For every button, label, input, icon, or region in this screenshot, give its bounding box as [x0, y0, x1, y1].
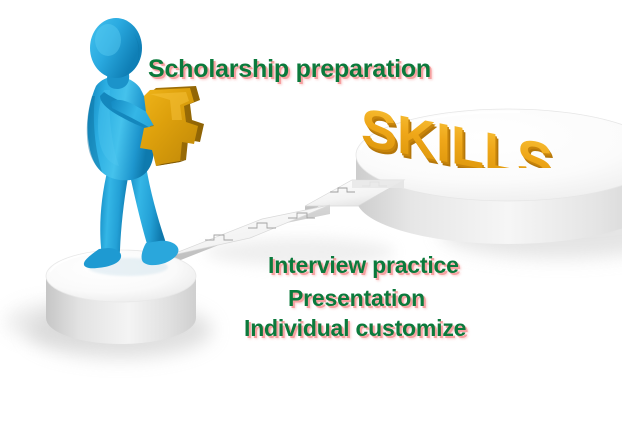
illustration-canvas: Scholarship preparation SKILLS SKILLS SK…: [0, 0, 622, 427]
path-connector-stone: [352, 180, 404, 188]
headline-scholarship-preparation: Scholarship preparation: [148, 55, 431, 84]
bullet-individual-customize: Individual customize: [244, 315, 466, 342]
bullet-interview-practice: Interview practice: [268, 252, 459, 279]
skills-face: SKILLS: [361, 97, 553, 168]
skills-3d-svg: SKILLS SKILLS SKILLS: [355, 88, 565, 168]
bullet-presentation: Presentation: [288, 285, 425, 312]
skills-3d-wordmark: SKILLS SKILLS SKILLS: [355, 88, 565, 168]
